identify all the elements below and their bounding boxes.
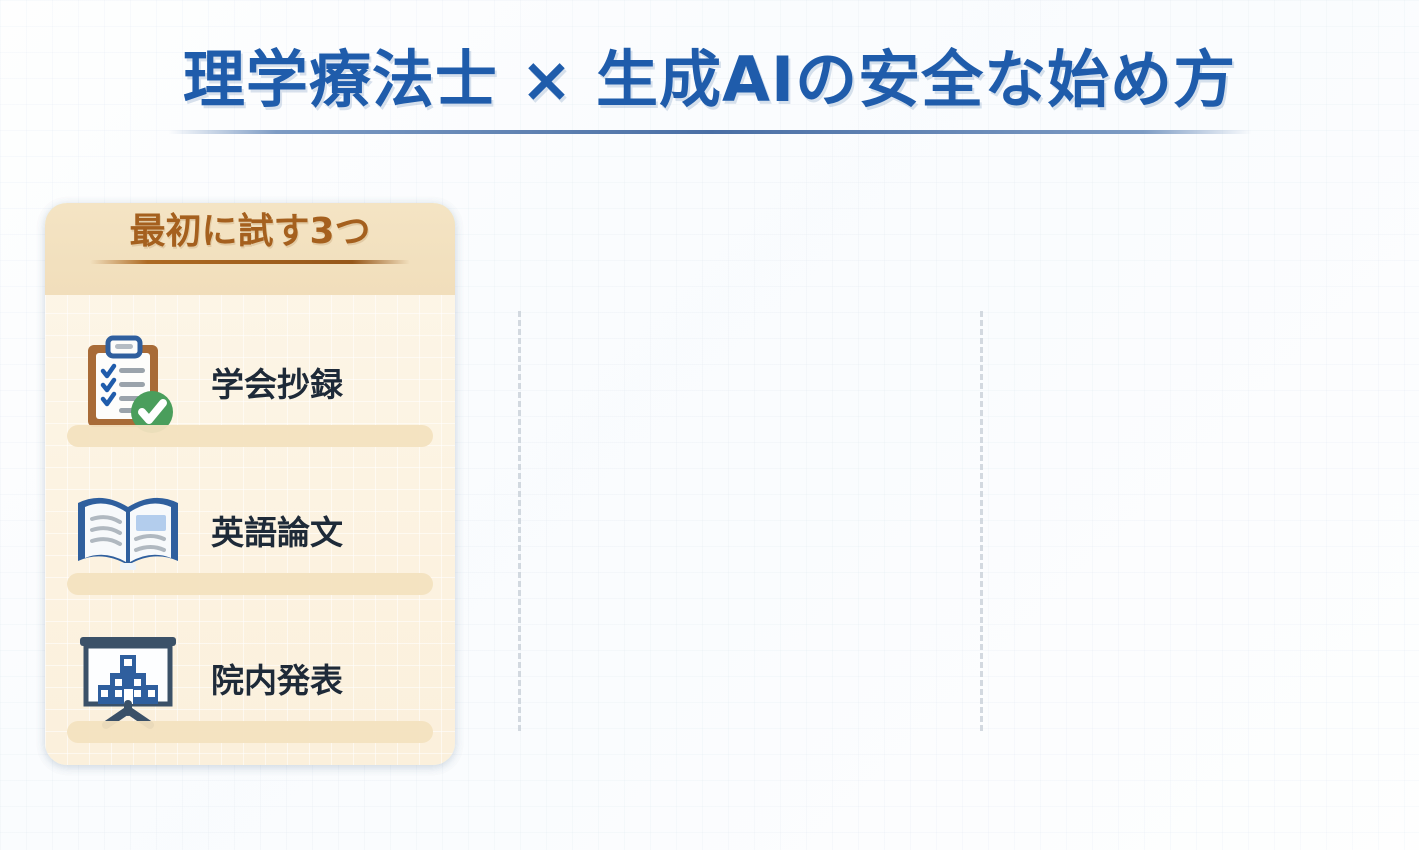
card-header-rule bbox=[90, 260, 410, 264]
card-first-three[interactable]: 最初に試す3つ bbox=[45, 203, 455, 765]
column-divider-1 bbox=[518, 311, 521, 731]
list-item[interactable]: 学会抄録 bbox=[45, 311, 455, 459]
item-pill-shadow bbox=[67, 721, 433, 743]
list-item-label: 学会抄録 bbox=[211, 365, 343, 405]
list-item[interactable]: 英語論文 bbox=[45, 459, 455, 607]
list-item-label: 英語論文 bbox=[211, 513, 343, 553]
list-item[interactable]: 院内発表 bbox=[45, 607, 455, 755]
columns-container: 使いやすい活用場面 bbox=[45, 203, 1375, 769]
title-area: 理学療法士 × 生成AIの安全な始め方 bbox=[0, 46, 1419, 134]
column-divider-2 bbox=[980, 311, 983, 731]
item-pill-shadow bbox=[67, 425, 433, 447]
card-header-first-three: 最初に試す3つ bbox=[45, 203, 455, 295]
item-pill-shadow bbox=[67, 573, 433, 595]
card-body: 学会抄録 bbox=[45, 295, 455, 765]
page-title: 理学療法士 × 生成AIの安全な始め方 bbox=[0, 46, 1419, 114]
card-title: 最初に試す3つ bbox=[129, 211, 370, 252]
title-underline bbox=[168, 130, 1252, 134]
list-item-label: 院内発表 bbox=[211, 661, 343, 701]
